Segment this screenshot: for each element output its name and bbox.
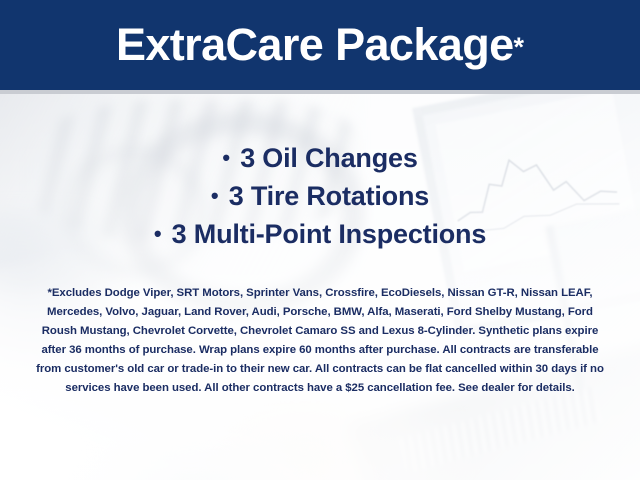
list-item-label: 3 Oil Changes [240,143,417,173]
list-item: • 3 Oil Changes [0,140,640,178]
extracare-package-ad: ExtraCare Package* • 3 Oil Changes • 3 T… [0,0,640,480]
bullet-dot-icon: • [211,183,222,208]
page-title: ExtraCare Package* [0,17,640,73]
page-title-text: ExtraCare Package [116,19,514,70]
disclaimer-text: *Excludes Dodge Viper, SRT Motors, Sprin… [28,284,612,397]
list-item-label: 3 Multi-Point Inspections [172,219,487,249]
header-banner: ExtraCare Package* [0,0,640,90]
list-item: • 3 Tire Rotations [0,178,640,216]
bullet-dot-icon: • [222,145,233,170]
bullet-dot-icon: • [154,221,165,246]
list-item-label: 3 Tire Rotations [229,181,429,211]
benefits-list: • 3 Oil Changes • 3 Tire Rotations • 3 M… [0,140,640,254]
title-asterisk: * [514,32,525,62]
banner-underline [0,90,640,94]
list-item: • 3 Multi-Point Inspections [0,216,640,254]
content-area: • 3 Oil Changes • 3 Tire Rotations • 3 M… [0,90,640,480]
